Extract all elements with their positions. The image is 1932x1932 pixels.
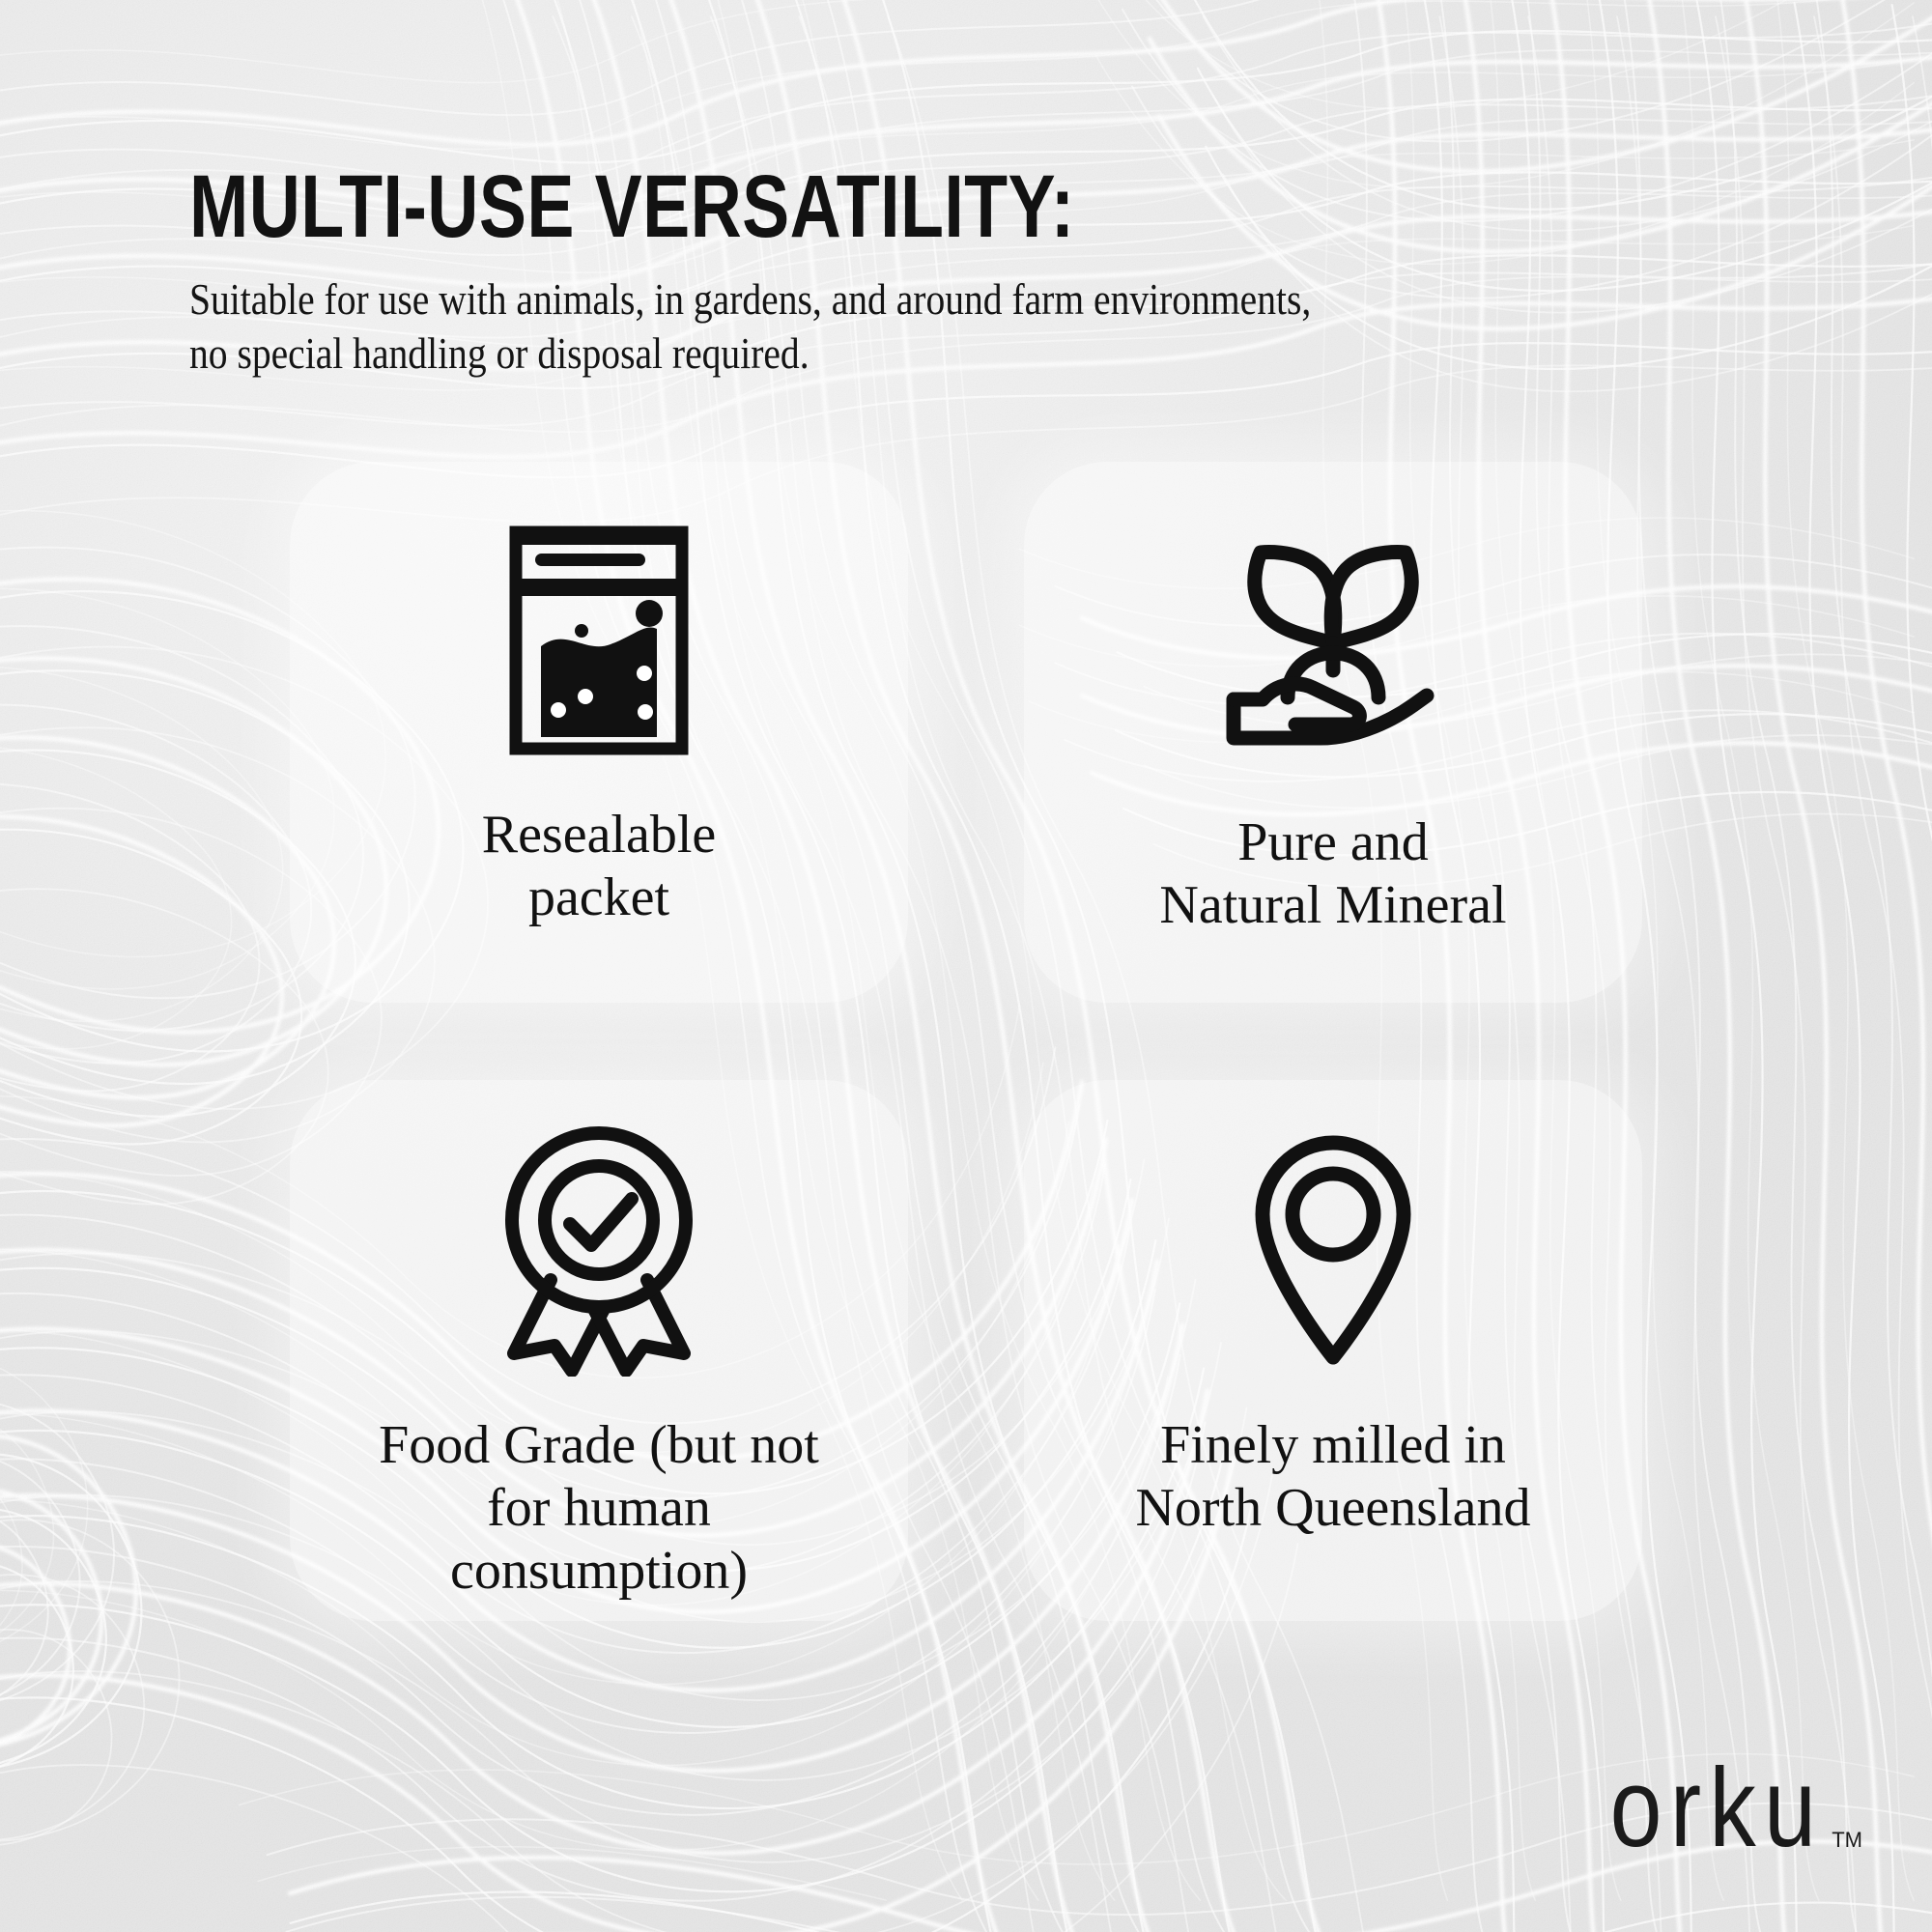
feature-card-label: Food Grade (but not for human consumptio… (290, 1414, 908, 1603)
page-title: MULTI-USE VERSATILITY: (189, 162, 1441, 251)
feature-grid: Resealable packet (290, 462, 1642, 1621)
seedling-in-hand-icon (1024, 462, 1642, 761)
header-block: MULTI-USE VERSATILITY: Suitable for use … (189, 162, 1754, 381)
feature-card-label: Resealable packet (290, 804, 908, 929)
card-label-line-1: Pure and (1037, 811, 1629, 874)
feature-card-label: Pure and Natural Mineral (1024, 811, 1642, 937)
card-label-line-1: Resealable (303, 804, 895, 867)
subtitle-line-1: Suitable for use with animals, in garden… (189, 272, 1751, 327)
feature-card-north-queensland: Finely milled in North Queensland (1024, 1080, 1642, 1621)
card-label-line-2: Natural Mineral (1037, 874, 1629, 937)
card-label-line-3: consumption) (303, 1540, 895, 1603)
feature-card-food-grade: Food Grade (but not for human consumptio… (290, 1080, 908, 1621)
brand-logo-wordmark: orku (1610, 1755, 1825, 1862)
brand-logo: orku TM (1594, 1767, 1862, 1862)
page-subtitle: Suitable for use with animals, in garden… (189, 272, 1751, 381)
subtitle-line-2: no special handling or disposal required… (189, 327, 1751, 381)
resealable-packet-icon (290, 462, 908, 761)
card-label-line-1: Finely milled in (1037, 1414, 1629, 1477)
award-badge-check-icon (290, 1080, 908, 1370)
card-label-line-2: packet (303, 867, 895, 929)
card-label-line-2: North Queensland (1037, 1477, 1629, 1540)
trademark-symbol: TM (1832, 1828, 1862, 1853)
card-label-line-2: for human (303, 1477, 895, 1540)
map-pin-icon (1024, 1080, 1642, 1370)
feature-card-label: Finely milled in North Queensland (1024, 1414, 1642, 1540)
feature-card-resealable-packet: Resealable packet (290, 462, 908, 1003)
feature-card-pure-natural-mineral: Pure and Natural Mineral (1024, 462, 1642, 1003)
poster-canvas: MULTI-USE VERSATILITY: Suitable for use … (0, 0, 1932, 1932)
card-label-line-1: Food Grade (but not (303, 1414, 895, 1477)
